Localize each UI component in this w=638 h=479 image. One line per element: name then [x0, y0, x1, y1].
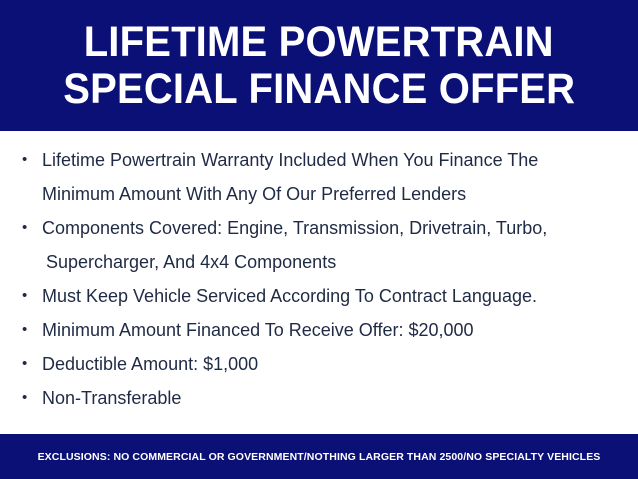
slide-root: LIFETIME POWERTRAIN SPECIAL FINANCE OFFE…	[0, 0, 638, 479]
bullet-point-icon: •	[22, 347, 42, 381]
list-item-text: Must Keep Vehicle Serviced According To …	[42, 279, 608, 313]
slide-title-line-2: SPECIAL FINANCE OFFER	[63, 66, 575, 113]
slide-title-line-1: LIFETIME POWERTRAIN	[84, 19, 554, 66]
list-item-text: Deductible Amount: $1,000	[42, 347, 608, 381]
list-item-text: Lifetime Powertrain Warranty Included Wh…	[42, 143, 608, 211]
header-band: LIFETIME POWERTRAIN SPECIAL FINANCE OFFE…	[0, 0, 638, 131]
list-item: • Minimum Amount Financed To Receive Off…	[22, 313, 616, 347]
list-item-text: Components Covered: Engine, Transmission…	[42, 211, 608, 279]
bullet-point-icon: •	[22, 313, 42, 347]
list-item: • Components Covered: Engine, Transmissi…	[22, 211, 616, 279]
body-area: • Lifetime Powertrain Warranty Included …	[0, 131, 638, 434]
list-item: • Must Keep Vehicle Serviced According T…	[22, 279, 616, 313]
list-item-line: Minimum Amount Financed To Receive Offer…	[42, 313, 608, 347]
list-item: • Deductible Amount: $1,000	[22, 347, 616, 381]
list-item-line: Deductible Amount: $1,000	[42, 347, 608, 381]
bullet-list: • Lifetime Powertrain Warranty Included …	[22, 143, 616, 415]
list-item-line: Lifetime Powertrain Warranty Included Wh…	[42, 143, 608, 177]
bullet-point-icon: •	[22, 211, 42, 245]
list-item-line: Components Covered: Engine, Transmission…	[42, 211, 608, 245]
exclusions-disclaimer: EXCLUSIONS: NO COMMERCIAL OR GOVERNMENT/…	[38, 450, 601, 464]
list-item-text: Minimum Amount Financed To Receive Offer…	[42, 313, 608, 347]
list-item: • Lifetime Powertrain Warranty Included …	[22, 143, 616, 211]
list-item-line: Must Keep Vehicle Serviced According To …	[42, 279, 608, 313]
list-item-line: Minimum Amount With Any Of Our Preferred…	[42, 177, 608, 211]
list-item-line: Supercharger, And 4x4 Components	[42, 245, 608, 279]
bullet-point-icon: •	[22, 279, 42, 313]
footer-band: EXCLUSIONS: NO COMMERCIAL OR GOVERNMENT/…	[0, 434, 638, 479]
bullet-point-icon: •	[22, 143, 42, 177]
bullet-point-icon: •	[22, 381, 42, 415]
list-item-line: Non-Transferable	[42, 381, 608, 415]
list-item-text: Non-Transferable	[42, 381, 608, 415]
list-item: • Non-Transferable	[22, 381, 616, 415]
